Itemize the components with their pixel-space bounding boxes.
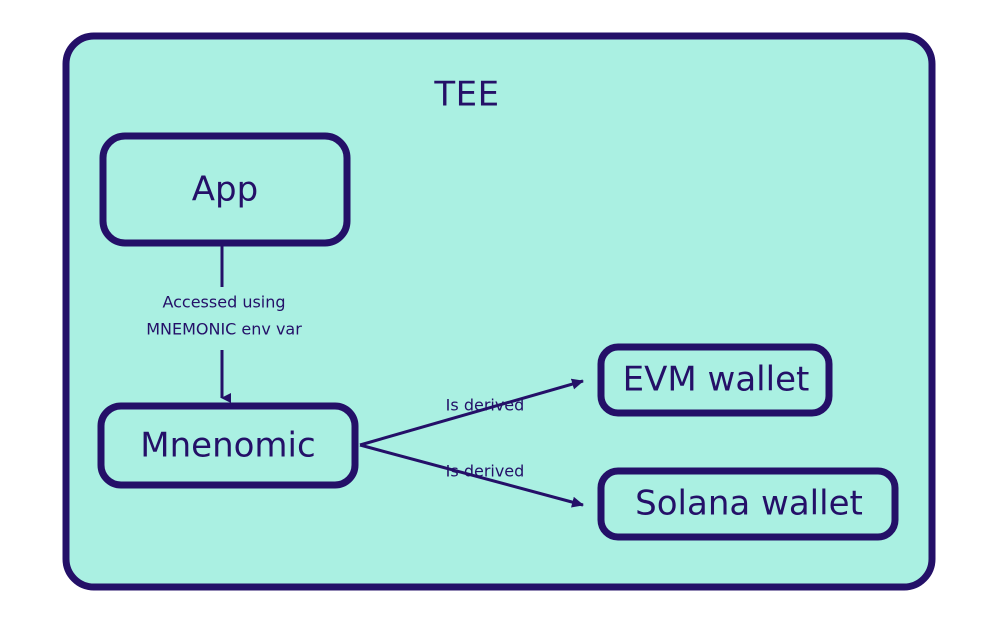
node-solana-wallet[interactable]: Solana wallet: [601, 471, 895, 537]
node-app[interactable]: App: [103, 136, 347, 243]
node-mnenomic[interactable]: Mnenomic: [101, 406, 355, 485]
edge-label-accessed-using: Accessed using: [162, 293, 285, 312]
tee-title: TEE: [433, 75, 499, 115]
node-evm-wallet-label: EVM wallet: [623, 360, 810, 400]
edge-label-mnemonic-env-var: MNEMONIC env var: [146, 320, 302, 339]
node-mnenomic-label: Mnenomic: [140, 426, 315, 466]
edge-label-is-derived-solana: Is derived: [446, 462, 525, 481]
node-app-label: App: [192, 170, 258, 210]
edge-label-is-derived-evm: Is derived: [446, 396, 525, 415]
diagram-canvas: TEE Accessed using MNEMONIC env var Is d…: [0, 0, 996, 632]
tee-wallet-derivation-diagram: TEE Accessed using MNEMONIC env var Is d…: [0, 0, 996, 632]
node-evm-wallet[interactable]: EVM wallet: [601, 347, 829, 413]
node-solana-wallet-label: Solana wallet: [635, 484, 863, 524]
